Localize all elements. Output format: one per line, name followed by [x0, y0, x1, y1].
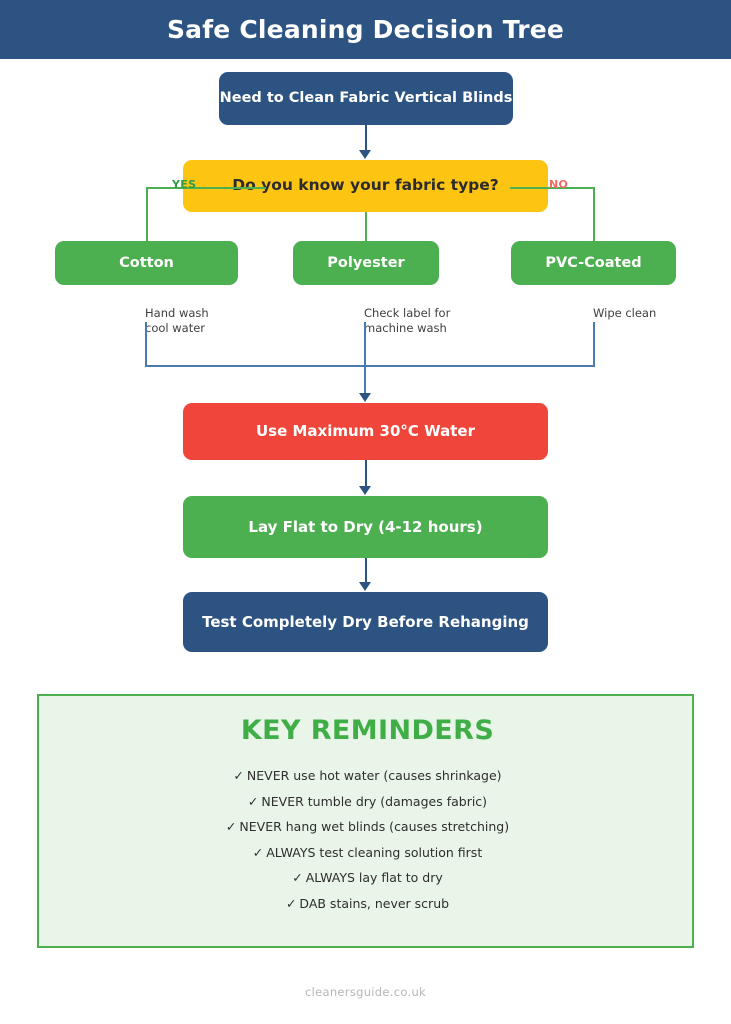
flow-node-cotton: Cotton	[55, 241, 238, 285]
list-item: ✓NEVER hang wet blinds (causes stretchin…	[39, 821, 696, 847]
list-item-label: NEVER use hot water (causes shrinkage)	[247, 768, 502, 783]
arrowhead-water-to-dry	[359, 486, 371, 495]
check-icon: ✓	[233, 768, 243, 783]
flow-node-polyester: Polyester	[293, 241, 439, 285]
arrowhead-start-to-question	[359, 150, 371, 159]
connector-water-to-dry	[365, 460, 367, 487]
edge-label-no: NO	[549, 178, 568, 191]
flow-node-lay-flat-dry-label: Lay Flat to Dry (4-12 hours)	[248, 518, 482, 537]
flow-node-question: Do you know your fabric type?	[183, 160, 548, 212]
connector-dry-to-test	[365, 558, 367, 583]
sublabel-cotton: Hand wash cool water	[145, 306, 209, 336]
flow-node-pvc: PVC-Coated	[511, 241, 676, 285]
flow-node-polyester-label: Polyester	[327, 254, 404, 272]
arrowhead-bracket-to-water	[359, 393, 371, 402]
key-reminders-panel: KEY REMINDERS ✓NEVER use hot water (caus…	[37, 694, 694, 948]
check-icon: ✓	[292, 870, 302, 885]
list-item: ✓ALWAYS lay flat to dry	[39, 872, 696, 898]
bracket-horizontal	[145, 365, 595, 367]
infographic-page: Safe Cleaning Decision Tree Need to Clea…	[0, 0, 731, 1024]
flow-node-water-temp-label: Use Maximum 30°C Water	[256, 422, 475, 441]
list-item: ✓NEVER tumble dry (damages fabric)	[39, 796, 696, 822]
check-icon: ✓	[253, 845, 263, 860]
flow-node-start: Need to Clean Fabric Vertical Blinds	[219, 72, 513, 125]
connector-yes-vertical	[146, 187, 148, 242]
check-icon: ✓	[248, 794, 258, 809]
list-item: ✓ALWAYS test cleaning solution first	[39, 847, 696, 873]
bracket-right-vertical	[593, 322, 595, 366]
key-reminders-title: KEY REMINDERS	[39, 715, 696, 746]
bracket-middle-vertical-lower	[364, 365, 366, 396]
list-item-label: ALWAYS lay flat to dry	[306, 870, 443, 885]
bracket-middle-vertical-upper	[364, 322, 366, 366]
list-item-label: ALWAYS test cleaning solution first	[266, 845, 482, 860]
connector-middle-to-polyester	[365, 212, 367, 242]
arrowhead-dry-to-test	[359, 582, 371, 591]
connector-start-to-question	[365, 125, 367, 151]
flow-node-test-dry: Test Completely Dry Before Rehanging	[183, 592, 548, 652]
sublabel-polyester: Check label for machine wash	[364, 306, 450, 336]
flow-node-cotton-label: Cotton	[119, 254, 174, 272]
connector-no-vertical	[593, 187, 595, 242]
flow-node-question-label: Do you know your fabric type?	[232, 176, 499, 195]
list-item: ✓DAB stains, never scrub	[39, 898, 696, 924]
flow-node-pvc-label: PVC-Coated	[545, 254, 641, 272]
list-item-label: DAB stains, never scrub	[299, 896, 449, 911]
list-item: ✓NEVER use hot water (causes shrinkage)	[39, 770, 696, 796]
footer-attribution: cleanersguide.co.uk	[0, 985, 731, 999]
bracket-left-vertical	[145, 322, 147, 366]
edge-label-yes: YES	[172, 178, 196, 191]
list-item-label: NEVER tumble dry (damages fabric)	[261, 794, 487, 809]
list-item-label: NEVER hang wet blinds (causes stretching…	[239, 819, 509, 834]
flow-node-water-temp: Use Maximum 30°C Water	[183, 403, 548, 460]
page-title: Safe Cleaning Decision Tree	[0, 0, 731, 59]
flow-node-test-dry-label: Test Completely Dry Before Rehanging	[202, 613, 529, 632]
key-reminders-list: ✓NEVER use hot water (causes shrinkage) …	[39, 770, 696, 923]
flow-node-lay-flat-dry: Lay Flat to Dry (4-12 hours)	[183, 496, 548, 558]
check-icon: ✓	[286, 896, 296, 911]
sublabel-pvc: Wipe clean	[593, 306, 656, 321]
connector-yes-horizontal	[146, 187, 266, 189]
flow-node-start-label: Need to Clean Fabric Vertical Blinds	[220, 89, 513, 107]
check-icon: ✓	[226, 819, 236, 834]
